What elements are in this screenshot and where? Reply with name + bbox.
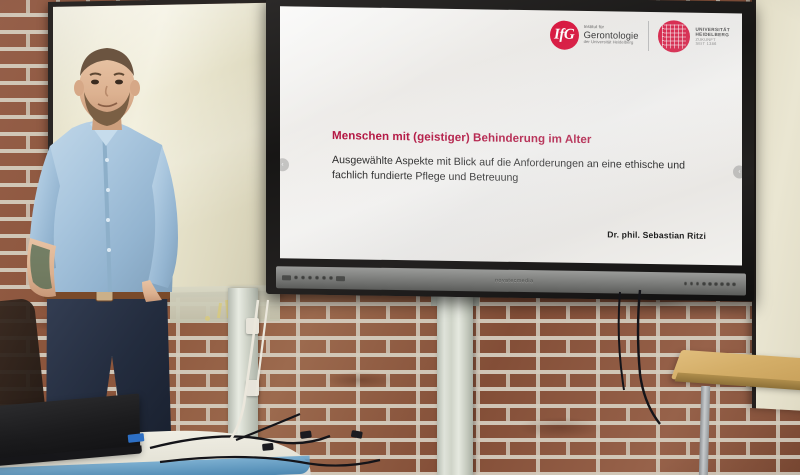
display-button[interactable]	[726, 282, 730, 286]
display-button[interactable]	[708, 282, 712, 286]
display-button[interactable]	[329, 276, 333, 280]
display-button[interactable]	[301, 276, 305, 280]
display-button[interactable]	[696, 282, 700, 286]
usb-connector	[128, 433, 145, 443]
display-brand-label: novatecmedia	[345, 275, 684, 286]
wall-socket[interactable]	[246, 318, 259, 334]
display-side-buttons[interactable]	[684, 282, 736, 286]
slide-author: Dr. phil. Sebastian Ritzi	[607, 229, 706, 241]
whiteboard	[48, 0, 280, 300]
display-button[interactable]	[714, 282, 718, 286]
ifg-logo-mark: IfG	[550, 20, 579, 49]
logo-divider	[648, 21, 649, 51]
uni-logo-text: UNIVERSITÄT HEIDELBERG ZUKUNFT SEIT 1386	[696, 27, 730, 48]
display-button[interactable]	[684, 282, 688, 286]
toolbar-handle-right-icon[interactable]: ‹	[733, 165, 742, 178]
display-button[interactable]	[702, 282, 706, 286]
slide-title: Menschen mit (geistiger) Behinderung im …	[332, 129, 592, 146]
display-input-controls[interactable]	[282, 275, 345, 281]
display-screen[interactable]: IfG Institut für Gerontologie der Univer…	[280, 6, 742, 265]
interactive-display[interactable]: IfG Institut für Gerontologie der Univer…	[266, 0, 754, 302]
display-port-icon	[282, 275, 291, 280]
display-mount-pole	[437, 296, 473, 475]
slide-subtitle: Ausgewählte Aspekte mit Blick auf die An…	[332, 153, 712, 189]
slide-logos: IfG Institut für Gerontologie der Univer…	[550, 18, 730, 53]
ifg-logo-text: Institut für Gerontologie der Universitä…	[584, 25, 639, 45]
right-wall-panel	[752, 0, 800, 412]
whiteboard-sheen	[53, 3, 275, 295]
display-button[interactable]	[315, 276, 319, 280]
display-button[interactable]	[690, 282, 694, 286]
presentation-slide: IfG Institut für Gerontologie der Univer…	[280, 6, 742, 265]
display-button[interactable]	[322, 276, 326, 280]
wall-socket[interactable]	[246, 380, 259, 396]
display-button[interactable]	[308, 276, 312, 280]
display-button[interactable]	[720, 282, 724, 286]
whiteboard-dot	[205, 316, 210, 321]
ifg-logo-line3: der Universität Heidelberg	[584, 40, 639, 45]
display-button[interactable]	[294, 275, 298, 279]
ifg-logo: IfG Institut für Gerontologie der Univer…	[550, 20, 639, 50]
uni-seal-icon	[658, 20, 690, 53]
uni-logo-line4: SEIT 1386	[696, 42, 730, 47]
display-power-button[interactable]	[732, 283, 736, 287]
display-port-icon	[336, 276, 345, 281]
photo-scene: IfG Institut für Gerontologie der Univer…	[0, 0, 800, 475]
university-heidelberg-logo: UNIVERSITÄT HEIDELBERG ZUKUNFT SEIT 1386	[658, 20, 730, 53]
